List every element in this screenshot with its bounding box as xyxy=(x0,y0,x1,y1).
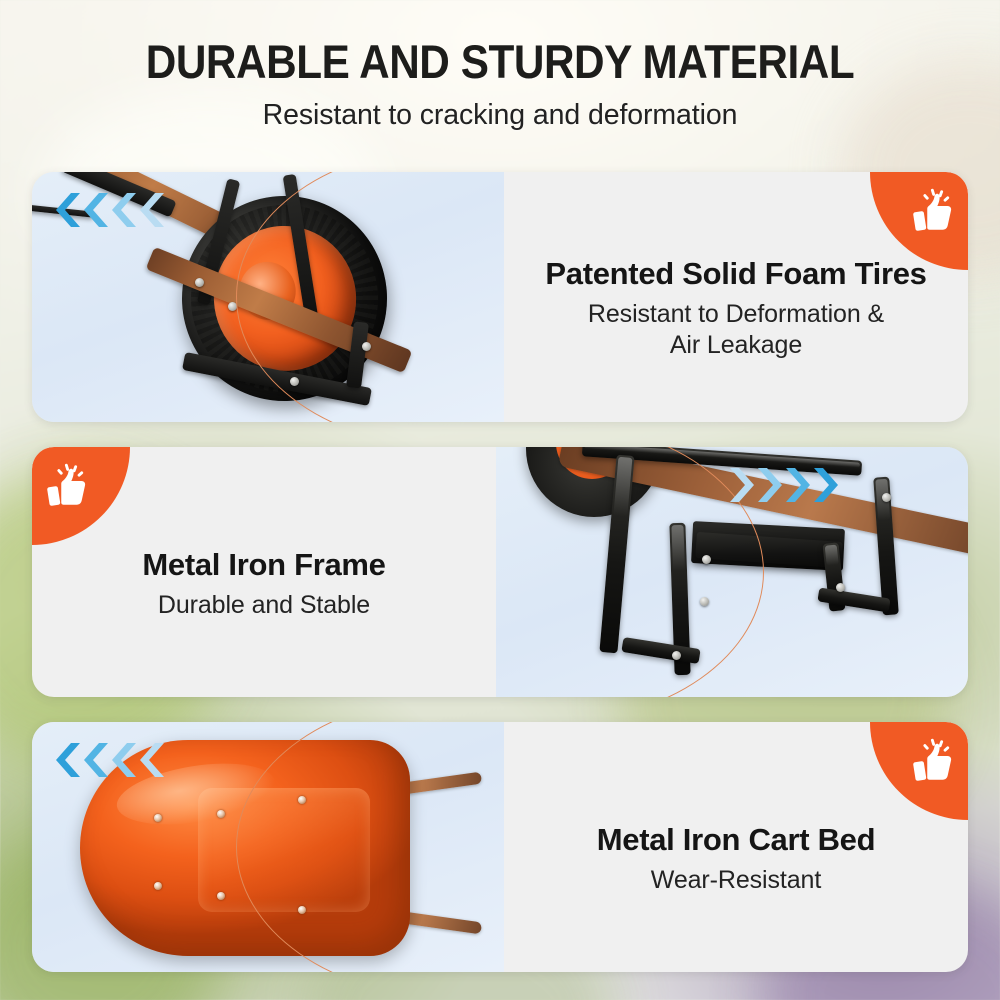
page-subtitle: Resistant to cracking and deformation xyxy=(0,98,1000,132)
chevron-left-icon xyxy=(84,192,110,228)
chevron-left-icon xyxy=(56,192,82,228)
feature-panel-metal-iron-cart-bed: Metal Iron Cart Bed Wear-Resistant xyxy=(32,722,968,972)
chevron-arrows-left xyxy=(56,192,168,228)
chevron-left-icon xyxy=(84,742,110,778)
feature-subtitle-line1: Durable and Stable xyxy=(158,590,370,622)
feature-subtitle-line1: Resistant to Deformation & xyxy=(588,299,884,331)
thumbs-up-icon xyxy=(910,188,956,234)
feature-title: Metal Iron Frame xyxy=(142,547,385,584)
feature-subtitle-line1: Wear-Resistant xyxy=(651,865,821,897)
chevron-arrows-left xyxy=(56,742,168,778)
chevron-right-icon xyxy=(728,467,754,503)
chevron-right-icon xyxy=(756,467,782,503)
chevron-arrows-right xyxy=(728,467,840,503)
chevron-left-icon xyxy=(112,742,138,778)
thumbs-up-icon xyxy=(44,463,90,509)
chevron-left-icon xyxy=(112,192,138,228)
page-title: DURABLE AND STURDY MATERIAL xyxy=(50,38,950,87)
feature-subtitle-line2: Air Leakage xyxy=(670,330,802,362)
chevron-left-icon xyxy=(56,742,82,778)
feature-title: Metal Iron Cart Bed xyxy=(597,822,876,859)
feature-title: Patented Solid Foam Tires xyxy=(545,256,926,293)
chevron-right-icon xyxy=(812,467,838,503)
chevron-left-icon xyxy=(140,192,166,228)
chevron-left-icon xyxy=(140,742,166,778)
infographic-page: DURABLE AND STURDY MATERIAL Resistant to… xyxy=(0,0,1000,1000)
feature-panel-patented-solid-foam-tires: Patented Solid Foam Tires Resistant to D… xyxy=(32,172,968,422)
feature-panel-metal-iron-frame: Metal Iron Frame Durable and Stable xyxy=(32,447,968,697)
header: DURABLE AND STURDY MATERIAL Resistant to… xyxy=(0,38,1000,132)
thumbs-up-icon xyxy=(910,738,956,784)
chevron-right-icon xyxy=(784,467,810,503)
